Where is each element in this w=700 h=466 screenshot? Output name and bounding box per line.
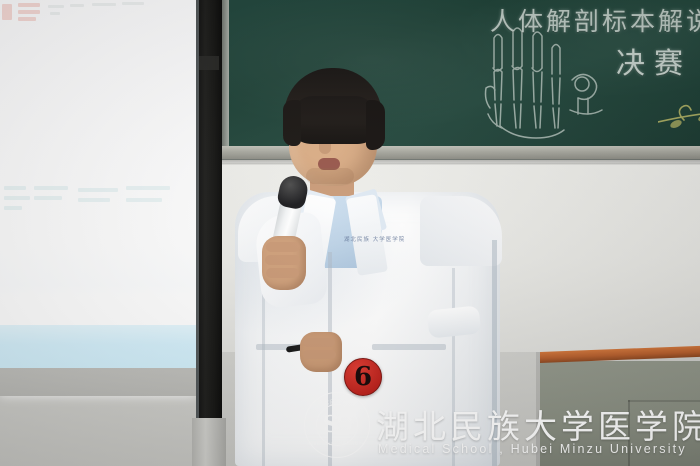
chin-shadow <box>306 168 354 184</box>
hair-fringe <box>292 96 376 128</box>
slide-text-fragment <box>78 188 118 192</box>
chalk-vine-decoration <box>658 78 700 130</box>
university-seal-top-text: 湖北民族大学 <box>304 399 368 406</box>
lab-coat-pocket-right <box>372 344 446 350</box>
finger <box>303 338 335 347</box>
hand-skeleton-chalk-drawing <box>480 22 610 142</box>
watermark-english-title: Medical School , Hubei Minzu University <box>378 442 687 456</box>
lab-coat-shoulder-right <box>420 196 502 266</box>
slide-text-fragment <box>4 206 22 210</box>
slide-text-fragment <box>34 186 68 190</box>
slide-text-fragment <box>50 12 60 15</box>
slide-text-fragment <box>92 3 116 6</box>
contestant-number-badge: 6 <box>344 358 382 396</box>
slide-text-fragment <box>78 198 110 202</box>
finger <box>266 242 300 252</box>
slide-text-fragment <box>126 198 162 202</box>
finger <box>303 350 336 359</box>
finger <box>266 268 299 278</box>
slide-text-fragment <box>34 196 62 200</box>
blackboard-left-rail <box>222 0 229 150</box>
hand-right <box>300 332 342 372</box>
lab-coat-chest-embroidery: 湖北民族 大学医学院 <box>344 236 390 260</box>
university-seal-bottom-text: HUBEI MINZU UNIVERSITY <box>304 442 368 446</box>
blackboard-subtitle: 决赛 <box>616 40 692 82</box>
lab-coat-cuff-right <box>427 305 482 338</box>
contestant-number: 6 <box>354 364 372 390</box>
dark-pillar-bracket <box>199 56 219 70</box>
watermark-chinese-title: 湖北民族大学医学院 <box>376 400 700 448</box>
university-seal-year: 1938 <box>304 436 368 441</box>
watermark: SS 湖北民族大学 1938 HUBEI MINZU UNIVERSITY 湖北… <box>304 392 700 466</box>
dark-pillar-base <box>192 418 226 466</box>
slide-text-fragment <box>4 186 26 190</box>
lab-coat-fold <box>262 280 265 466</box>
slide-text-fragment <box>18 10 40 14</box>
slide-text-fragment <box>48 5 64 8</box>
blackboard-title: 人体解剖标本解说大赛 <box>490 2 700 38</box>
slide-text-fragment <box>2 4 12 20</box>
photo-scene: 人体解剖标本解说大赛 决赛 共青团湖北民族 共青团 湖北民族大学医学部总支委员会 <box>0 0 700 466</box>
slide-text-fragment <box>18 3 40 7</box>
slide-text-fragment <box>122 2 144 5</box>
projection-screen-lower-shadow <box>0 368 196 396</box>
hand-left <box>262 236 306 290</box>
slide-text-fragment <box>70 4 84 7</box>
slide-text-fragment <box>126 186 170 190</box>
hair-side-left <box>283 100 301 146</box>
slide-text-fragment <box>18 17 36 21</box>
finger <box>265 255 300 265</box>
slide-text-fragment <box>4 196 30 200</box>
projection-screen-accent-band <box>0 325 196 368</box>
hair-side-right <box>366 100 385 150</box>
